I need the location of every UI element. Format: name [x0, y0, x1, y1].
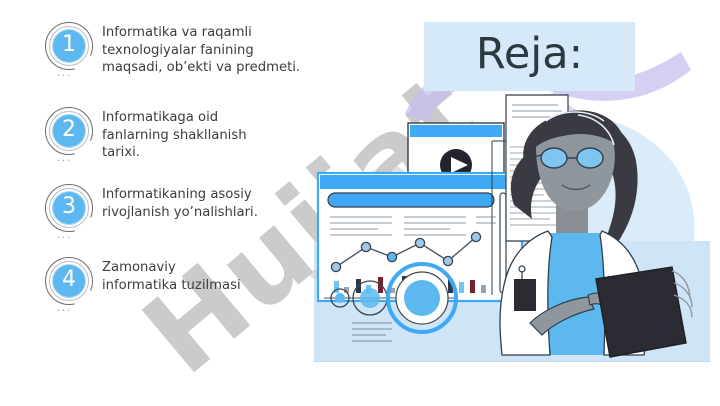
badge-disc: 4: [52, 264, 86, 298]
badge-dots: ...: [57, 230, 72, 241]
illustration: [300, 55, 720, 406]
agenda-badge-1: 1 ...: [40, 20, 96, 82]
agenda-item-2[interactable]: 2 ... Informatikaga oid fanlarning shakl…: [40, 105, 247, 167]
search-bar: [328, 193, 494, 207]
agenda-item-text: Informatika va raqamli texnologiyalar fa…: [102, 20, 300, 77]
badge-dots: ...: [57, 303, 72, 314]
agenda-list: 1 ... Informatika va raqamli texnologiya…: [0, 0, 330, 406]
agenda-badge-2: 2 ...: [40, 105, 96, 167]
agenda-item-text: Zamonaviy informatika tuzilmasi: [102, 255, 241, 294]
badge-dots: ...: [57, 153, 72, 164]
agenda-item-3[interactable]: 3 ... Informatikaning asosiy rivojlanish…: [40, 182, 258, 244]
badge-number: 2: [62, 119, 76, 143]
agenda-badge-3: 3 ...: [40, 182, 96, 244]
page-title: Reja:: [476, 33, 583, 80]
agenda-item-text: Informatikaning asosiy rivojlanish yo’na…: [102, 182, 258, 221]
badge-number: 1: [62, 34, 76, 58]
badge-number: 3: [62, 196, 76, 220]
badge-disc: 2: [52, 114, 86, 148]
agenda-badge-4: 4 ...: [40, 255, 96, 317]
slide-canvas: Hujjat Reja:: [0, 0, 720, 406]
badge-number: 4: [62, 269, 76, 293]
agenda-item-1[interactable]: 1 ... Informatika va raqamli texnologiya…: [40, 20, 300, 82]
badge-disc: 3: [52, 191, 86, 225]
id-badge: [514, 279, 536, 311]
badge-disc: 1: [52, 29, 86, 63]
badge-dots: ...: [57, 68, 72, 79]
agenda-item-text: Informatikaga oid fanlarning shakllanish…: [102, 105, 247, 162]
agenda-item-4[interactable]: 4 ... Zamonaviy informatika tuzilmasi: [40, 255, 241, 317]
title-box: Reja:: [424, 22, 635, 91]
